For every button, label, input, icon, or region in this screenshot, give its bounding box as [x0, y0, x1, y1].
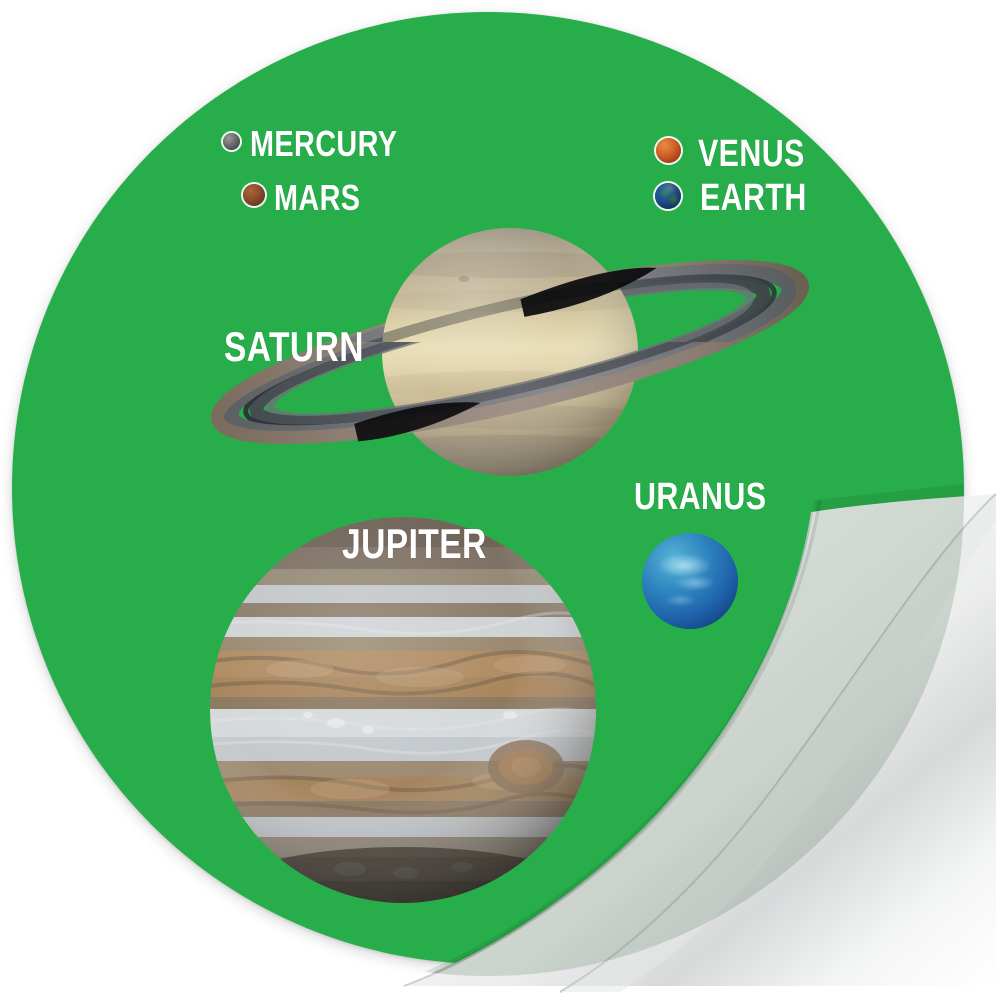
sticker-canvas: MERCURY MARS VENUS EARTH SATURN JUPITER … [0, 0, 1000, 1000]
sticker-disc: MERCURY MARS VENUS EARTH SATURN JUPITER … [12, 12, 964, 964]
label-saturn: SATURN [224, 326, 364, 368]
mars-dot-icon [243, 184, 265, 206]
label-uranus: URANUS [634, 478, 766, 516]
mercury-dot-icon [223, 133, 240, 150]
planet-jupiter-graphic [210, 517, 596, 903]
venus-dot-icon [656, 138, 681, 163]
planet-uranus-graphic [642, 533, 738, 629]
label-mercury: MERCURY [250, 126, 397, 162]
earth-dot-icon [655, 183, 681, 209]
label-venus: VENUS [698, 135, 805, 173]
label-earth: EARTH [700, 179, 807, 217]
label-jupiter: JUPITER [342, 523, 487, 565]
label-mars: MARS [274, 180, 360, 216]
